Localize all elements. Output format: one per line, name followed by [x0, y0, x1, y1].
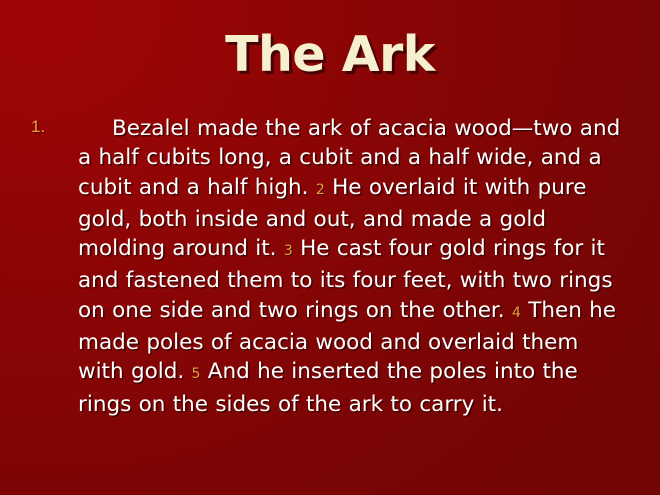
presentation-slide: The Ark 1. Bezalel made the ark of acaci…	[0, 0, 660, 495]
scripture-passage-text: Bezalel made the ark of acacia wood—two …	[78, 114, 631, 419]
list-item: 1. Bezalel made the ark of acacia wood—t…	[31, 114, 631, 419]
slide-body-container: 1. Bezalel made the ark of acacia wood—t…	[31, 114, 631, 419]
slide-title-container: The Ark	[0, 26, 660, 84]
list-item-number: 1.	[31, 117, 59, 137]
verse-number: 4	[512, 305, 521, 321]
verse-number: 5	[192, 366, 201, 382]
page-title: The Ark	[225, 26, 435, 84]
verse-number: 2	[316, 182, 325, 198]
verse-number: 3	[284, 243, 293, 259]
